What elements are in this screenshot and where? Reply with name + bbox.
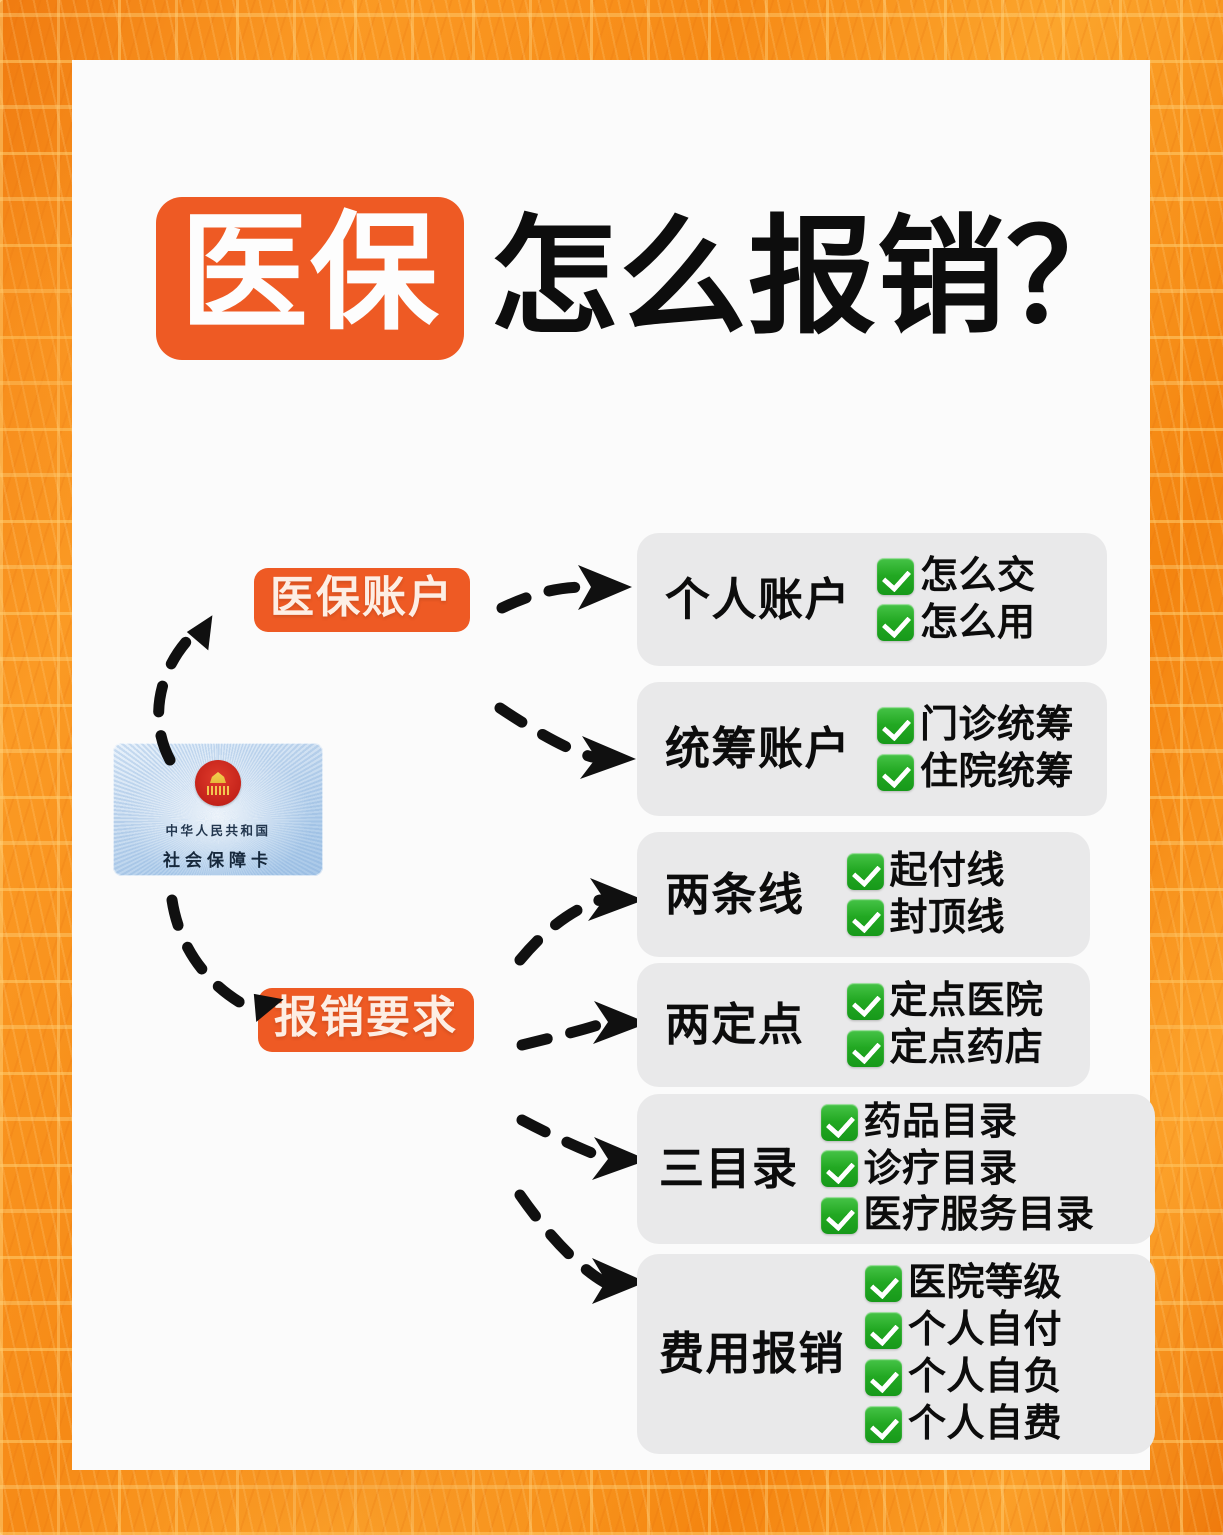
- list-item-label: 定点药店: [890, 1026, 1044, 1071]
- national-emblem-icon: [195, 760, 241, 806]
- check-icon: [865, 1265, 902, 1302]
- check-icon: [877, 558, 914, 595]
- check-icon: [847, 853, 884, 890]
- check-icon: [821, 1104, 858, 1141]
- list-item-label: 医院等级: [908, 1261, 1062, 1306]
- list-item[interactable]: 怎么交: [877, 554, 1036, 599]
- list-item[interactable]: 个人自付: [865, 1308, 1062, 1353]
- list-item[interactable]: 封顶线: [847, 896, 1006, 941]
- diagram-area: 中华人民共和国 社会保障卡 医保账户 报销要求: [72, 60, 1150, 1470]
- card-country-label: 中华人民共和国: [165, 820, 270, 839]
- dashed-arrow-to-card-5-icon: [520, 1195, 604, 1282]
- card-item-list: 定点医院 定点药店: [847, 979, 1044, 1071]
- check-icon: [847, 1030, 884, 1067]
- check-icon: [865, 1406, 902, 1443]
- card-title: 两条线: [665, 870, 805, 920]
- check-icon: [877, 707, 914, 744]
- card-title: 统筹账户: [665, 724, 851, 774]
- list-item-label: 起付线: [890, 849, 1006, 894]
- list-item[interactable]: 诊疗目录: [821, 1147, 1095, 1192]
- check-icon: [865, 1312, 902, 1349]
- check-icon: [847, 983, 884, 1020]
- info-card-expense-reimbursement[interactable]: 费用报销 医院等级 个人自付 个人自负 个人自费: [637, 1254, 1155, 1454]
- social-security-card-image: 中华人民共和国 社会保障卡: [113, 743, 323, 876]
- dashed-arrow-to-requirements-group-icon: [172, 900, 254, 1010]
- list-item-label: 药品目录: [864, 1100, 1018, 1145]
- list-item-label: 个人自付: [908, 1308, 1062, 1353]
- check-icon: [821, 1197, 858, 1234]
- dashed-arrow-to-card-2-icon: [520, 900, 600, 960]
- info-card-pooled-account[interactable]: 统筹账户 门诊统筹 住院统筹: [637, 682, 1107, 816]
- info-card-three-catalogs[interactable]: 三目录 药品目录 诊疗目录 医疗服务目录: [637, 1094, 1155, 1244]
- dashed-arrow-to-card-1-icon: [500, 708, 592, 757]
- list-item-label: 住院统筹: [920, 750, 1074, 795]
- check-icon: [865, 1359, 902, 1396]
- card-item-list: 药品目录 诊疗目录 医疗服务目录: [821, 1100, 1095, 1238]
- list-item[interactable]: 门诊统筹: [877, 703, 1074, 748]
- check-icon: [821, 1150, 858, 1187]
- card-title: 三目录: [659, 1144, 799, 1194]
- info-card-two-designated[interactable]: 两定点 定点医院 定点药店: [637, 963, 1090, 1087]
- list-item-label: 怎么用: [920, 601, 1036, 646]
- list-item-label: 医疗服务目录: [864, 1193, 1095, 1238]
- card-item-list: 门诊统筹 住院统筹: [877, 703, 1074, 795]
- list-item[interactable]: 医院等级: [865, 1261, 1062, 1306]
- card-title: 费用报销: [659, 1329, 845, 1379]
- list-item[interactable]: 个人自费: [865, 1402, 1062, 1447]
- list-item[interactable]: 医疗服务目录: [821, 1193, 1095, 1238]
- check-icon: [877, 604, 914, 641]
- list-item-label: 诊疗目录: [864, 1147, 1018, 1192]
- list-item[interactable]: 药品目录: [821, 1100, 1095, 1145]
- list-item[interactable]: 定点药店: [847, 1026, 1044, 1071]
- card-title: 两定点: [665, 1000, 805, 1050]
- list-item-label: 怎么交: [920, 554, 1036, 599]
- list-item-label: 门诊统筹: [920, 703, 1074, 748]
- list-item[interactable]: 住院统筹: [877, 750, 1074, 795]
- list-item-label: 个人自负: [908, 1355, 1062, 1400]
- card-type-label: 社会保障卡: [163, 846, 273, 871]
- info-card-two-lines[interactable]: 两条线 起付线 封顶线: [637, 832, 1090, 957]
- list-item[interactable]: 起付线: [847, 849, 1006, 894]
- arrow-heads: [185, 565, 648, 1304]
- dashed-arrow-to-card-0-icon: [502, 587, 588, 608]
- dashed-arrow-to-card-4-icon: [522, 1120, 604, 1158]
- list-item-label: 个人自费: [908, 1402, 1062, 1447]
- dashed-arrow-to-card-3-icon: [522, 1023, 604, 1045]
- group-chip-reimbursement-requirements[interactable]: 报销要求: [258, 988, 474, 1052]
- info-card-personal-account[interactable]: 个人账户 怎么交 怎么用: [637, 533, 1107, 666]
- card-item-list: 起付线 封顶线: [847, 849, 1006, 941]
- card-item-list: 怎么交 怎么用: [877, 554, 1036, 646]
- content-panel: 医保 怎么报销？ 中华人民共和国 社会保障卡 医保账户 报销要求: [72, 60, 1150, 1470]
- list-item[interactable]: 定点医院: [847, 979, 1044, 1024]
- list-item[interactable]: 个人自负: [865, 1355, 1062, 1400]
- check-icon: [877, 754, 914, 791]
- group-chip-medical-account[interactable]: 医保账户: [254, 568, 470, 632]
- list-item-label: 定点医院: [890, 979, 1044, 1024]
- list-item[interactable]: 怎么用: [877, 601, 1036, 646]
- check-icon: [847, 899, 884, 936]
- dashed-arrow-to-account-group-icon: [159, 628, 200, 760]
- list-item-label: 封顶线: [890, 896, 1006, 941]
- card-item-list: 医院等级 个人自付 个人自负 个人自费: [865, 1261, 1062, 1446]
- card-title: 个人账户: [665, 575, 851, 625]
